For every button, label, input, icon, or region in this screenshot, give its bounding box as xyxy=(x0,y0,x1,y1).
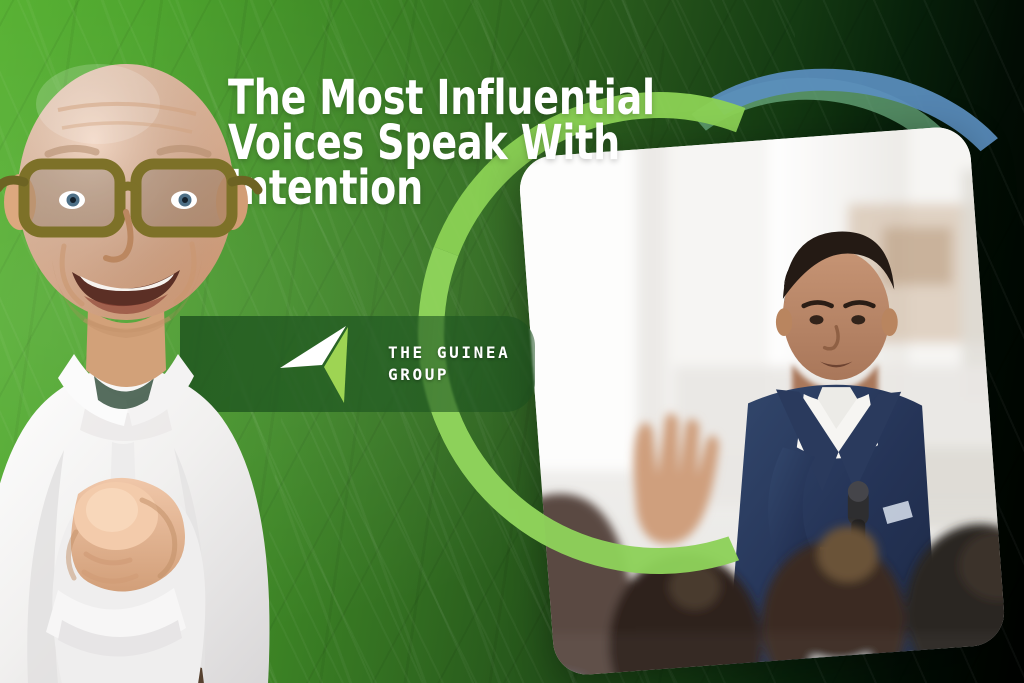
logo-line-2: GROUP xyxy=(388,364,510,386)
logo-line-1: THE GUINEA xyxy=(388,343,510,362)
presenter-portrait-illustration xyxy=(0,24,296,683)
banner-canvas: The Most Influential Voices Speak With I… xyxy=(0,0,1024,683)
presenter-portrait xyxy=(0,24,296,683)
logo-wordmark: THE GUINEA GROUP xyxy=(388,342,510,385)
